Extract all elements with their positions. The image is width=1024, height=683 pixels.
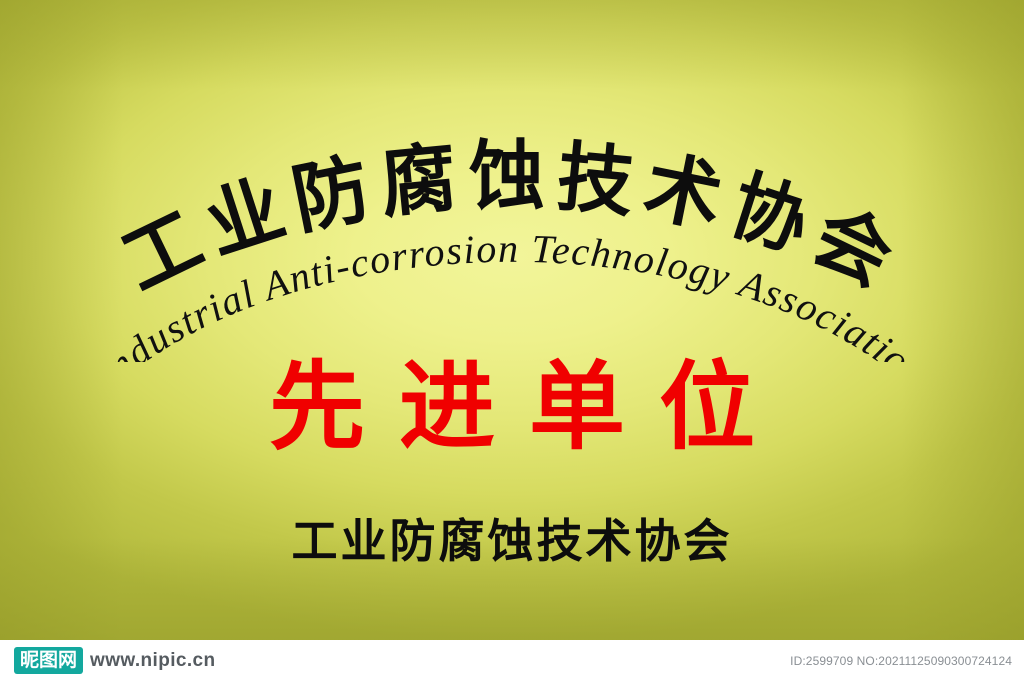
- footer-bar: 昵图网 www.nipic.cn ID:2599709 NO:202111250…: [0, 640, 1024, 683]
- organization-name: 工业防腐蚀技术协会: [0, 512, 1024, 570]
- headline-text: 先进单位: [0, 352, 1024, 462]
- arched-title-group: 工业防腐蚀技术协会 Industrial Anti-corrosion Tech…: [0, 52, 1024, 362]
- image-id-text: ID:2599709 NO:20211125090300724124: [790, 654, 1012, 668]
- brand-url-text: www.nipic.cn: [90, 650, 216, 672]
- plaque-image: 工业防腐蚀技术协会 Industrial Anti-corrosion Tech…: [0, 0, 1024, 683]
- nipic-logo: 昵图网: [14, 647, 83, 674]
- watermark-brand: 昵图网 www.nipic.cn: [14, 647, 216, 674]
